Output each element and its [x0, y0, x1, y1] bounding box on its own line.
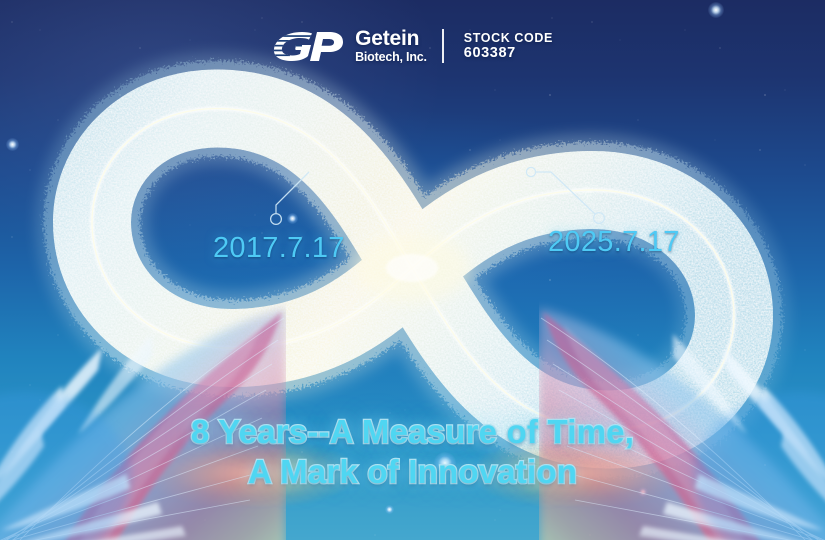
star-bright-rightloop [578, 182, 598, 202]
star-bright-left [6, 138, 19, 151]
pointer-line-right-icon [526, 167, 604, 223]
gp-logo-icon [272, 29, 344, 63]
stock-info: STOCK CODE 603387 [464, 31, 553, 61]
headline-line-1: 8 Years--A Measure of Time, [0, 412, 825, 452]
end-date-label: 2025.7.17 [548, 226, 680, 259]
infinity-inner-rim [92, 108, 734, 429]
infinity-center-core [386, 254, 438, 282]
star-bright-bottom-mid [385, 505, 394, 514]
brand-subtitle: Biotech, Inc. [355, 51, 427, 64]
wing-left-icon [0, 278, 286, 540]
start-date-label: 2017.7.17 [213, 232, 345, 265]
infinity-band [92, 108, 734, 429]
anniversary-poster: Getein Biotech, Inc. STOCK CODE 603387 2… [0, 0, 825, 540]
brand-name: Getein [355, 28, 427, 49]
pointer-line-left-icon [271, 172, 309, 224]
star-bright-topright [708, 2, 724, 18]
infinity-center-flare [354, 234, 470, 302]
star-bright-leftloop [287, 213, 298, 224]
infinity-outer-halo [92, 108, 734, 429]
brand-lockup: Getein Biotech, Inc. [355, 28, 427, 64]
infinity-dispersed-edge [92, 108, 734, 429]
header-divider [442, 29, 444, 63]
wing-right-icon [539, 278, 825, 540]
brand-header: Getein Biotech, Inc. STOCK CODE 603387 [0, 28, 825, 64]
page-title: 8 Years--A Measure of Time, A Mark of In… [0, 412, 825, 493]
stock-code-label: STOCK CODE [464, 31, 553, 45]
headline-line-2: A Mark of Innovation [0, 452, 825, 492]
stock-code-value: 603387 [464, 45, 553, 61]
